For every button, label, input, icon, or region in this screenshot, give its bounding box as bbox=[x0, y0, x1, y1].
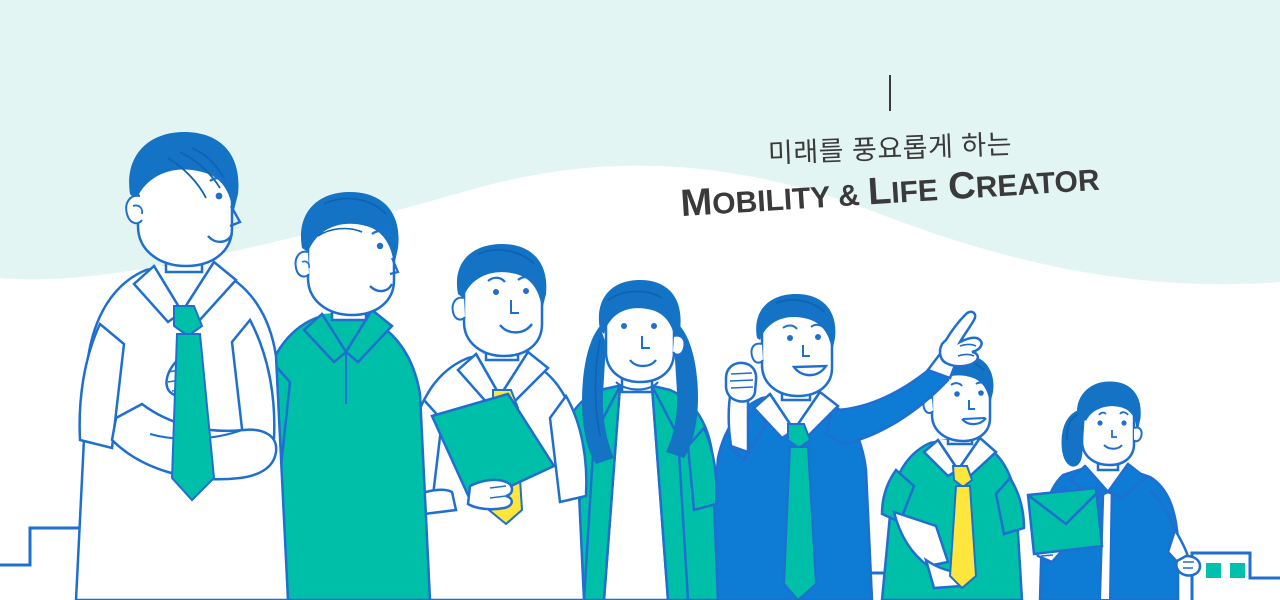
hero-banner: 미래를 풍요롭게 하는 MOBILITY & LIFE CREATOR bbox=[0, 0, 1280, 600]
hero-illustration bbox=[0, 0, 1280, 600]
